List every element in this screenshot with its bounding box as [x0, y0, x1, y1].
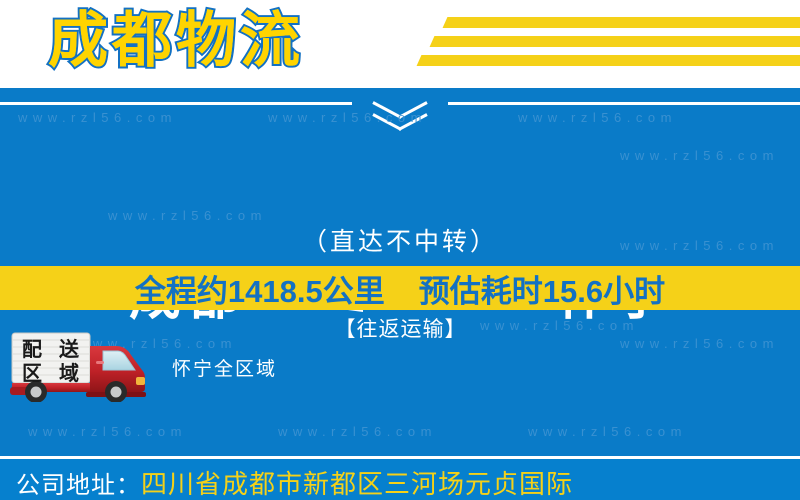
footer-divider-rule	[0, 456, 800, 459]
watermark-1: www.rzl56.com	[268, 110, 427, 125]
address-label: 公司地址：	[16, 472, 141, 499]
watermark-9: www.rzl56.com	[620, 336, 779, 351]
direct-service-label: （直达不中转）	[0, 222, 800, 258]
truck-box-char-1: 送	[59, 337, 80, 361]
distance-value: 全程约1418.5公里	[135, 266, 385, 311]
watermark-11: www.rzl56.com	[278, 424, 437, 439]
watermark-12: www.rzl56.com	[528, 424, 687, 439]
duration-value: 预估耗时15.6小时	[419, 266, 665, 311]
main-blue-zone: www.rzl56.comwww.rzl56.comwww.rzl56.comw…	[0, 88, 800, 456]
watermark-3: www.rzl56.com	[620, 148, 779, 163]
stats-band: 全程约1418.5公里 预估耗时15.6小时	[0, 266, 800, 310]
footer-zone: 公司地址：四川省成都市新都区三河场元贞国际	[0, 456, 800, 500]
logistics-banner: 成都物流 成都物流 www.rzl56.comwww.rzl56.comwww.…	[0, 0, 800, 500]
watermark-0: www.rzl56.com	[18, 110, 177, 125]
header-stripe-2	[430, 36, 800, 47]
truck-box-char-3: 域	[59, 361, 79, 385]
header-stripe-3	[417, 55, 800, 66]
truck-box-char-0: 配	[22, 337, 42, 361]
page-title-fill: 成都物流	[48, 4, 304, 78]
header-zone: 成都物流 成都物流	[0, 0, 800, 88]
header-stripe-1	[443, 17, 800, 28]
address-value: 四川省成都市新都区三河场元贞国际	[141, 469, 573, 499]
watermark-2: www.rzl56.com	[518, 110, 677, 125]
watermark-10: www.rzl56.com	[28, 424, 187, 439]
truck-box-char-2: 区	[22, 361, 42, 385]
delivery-coverage-label: 怀宁全区域	[172, 354, 277, 381]
round-trip-label: 【往返运输】	[288, 313, 513, 343]
company-address: 公司地址：四川省成都市新都区三河场元贞国际	[16, 464, 573, 500]
delivery-truck-icon: 配 送 区 域	[8, 330, 156, 402]
watermark-4: www.rzl56.com	[108, 208, 267, 223]
